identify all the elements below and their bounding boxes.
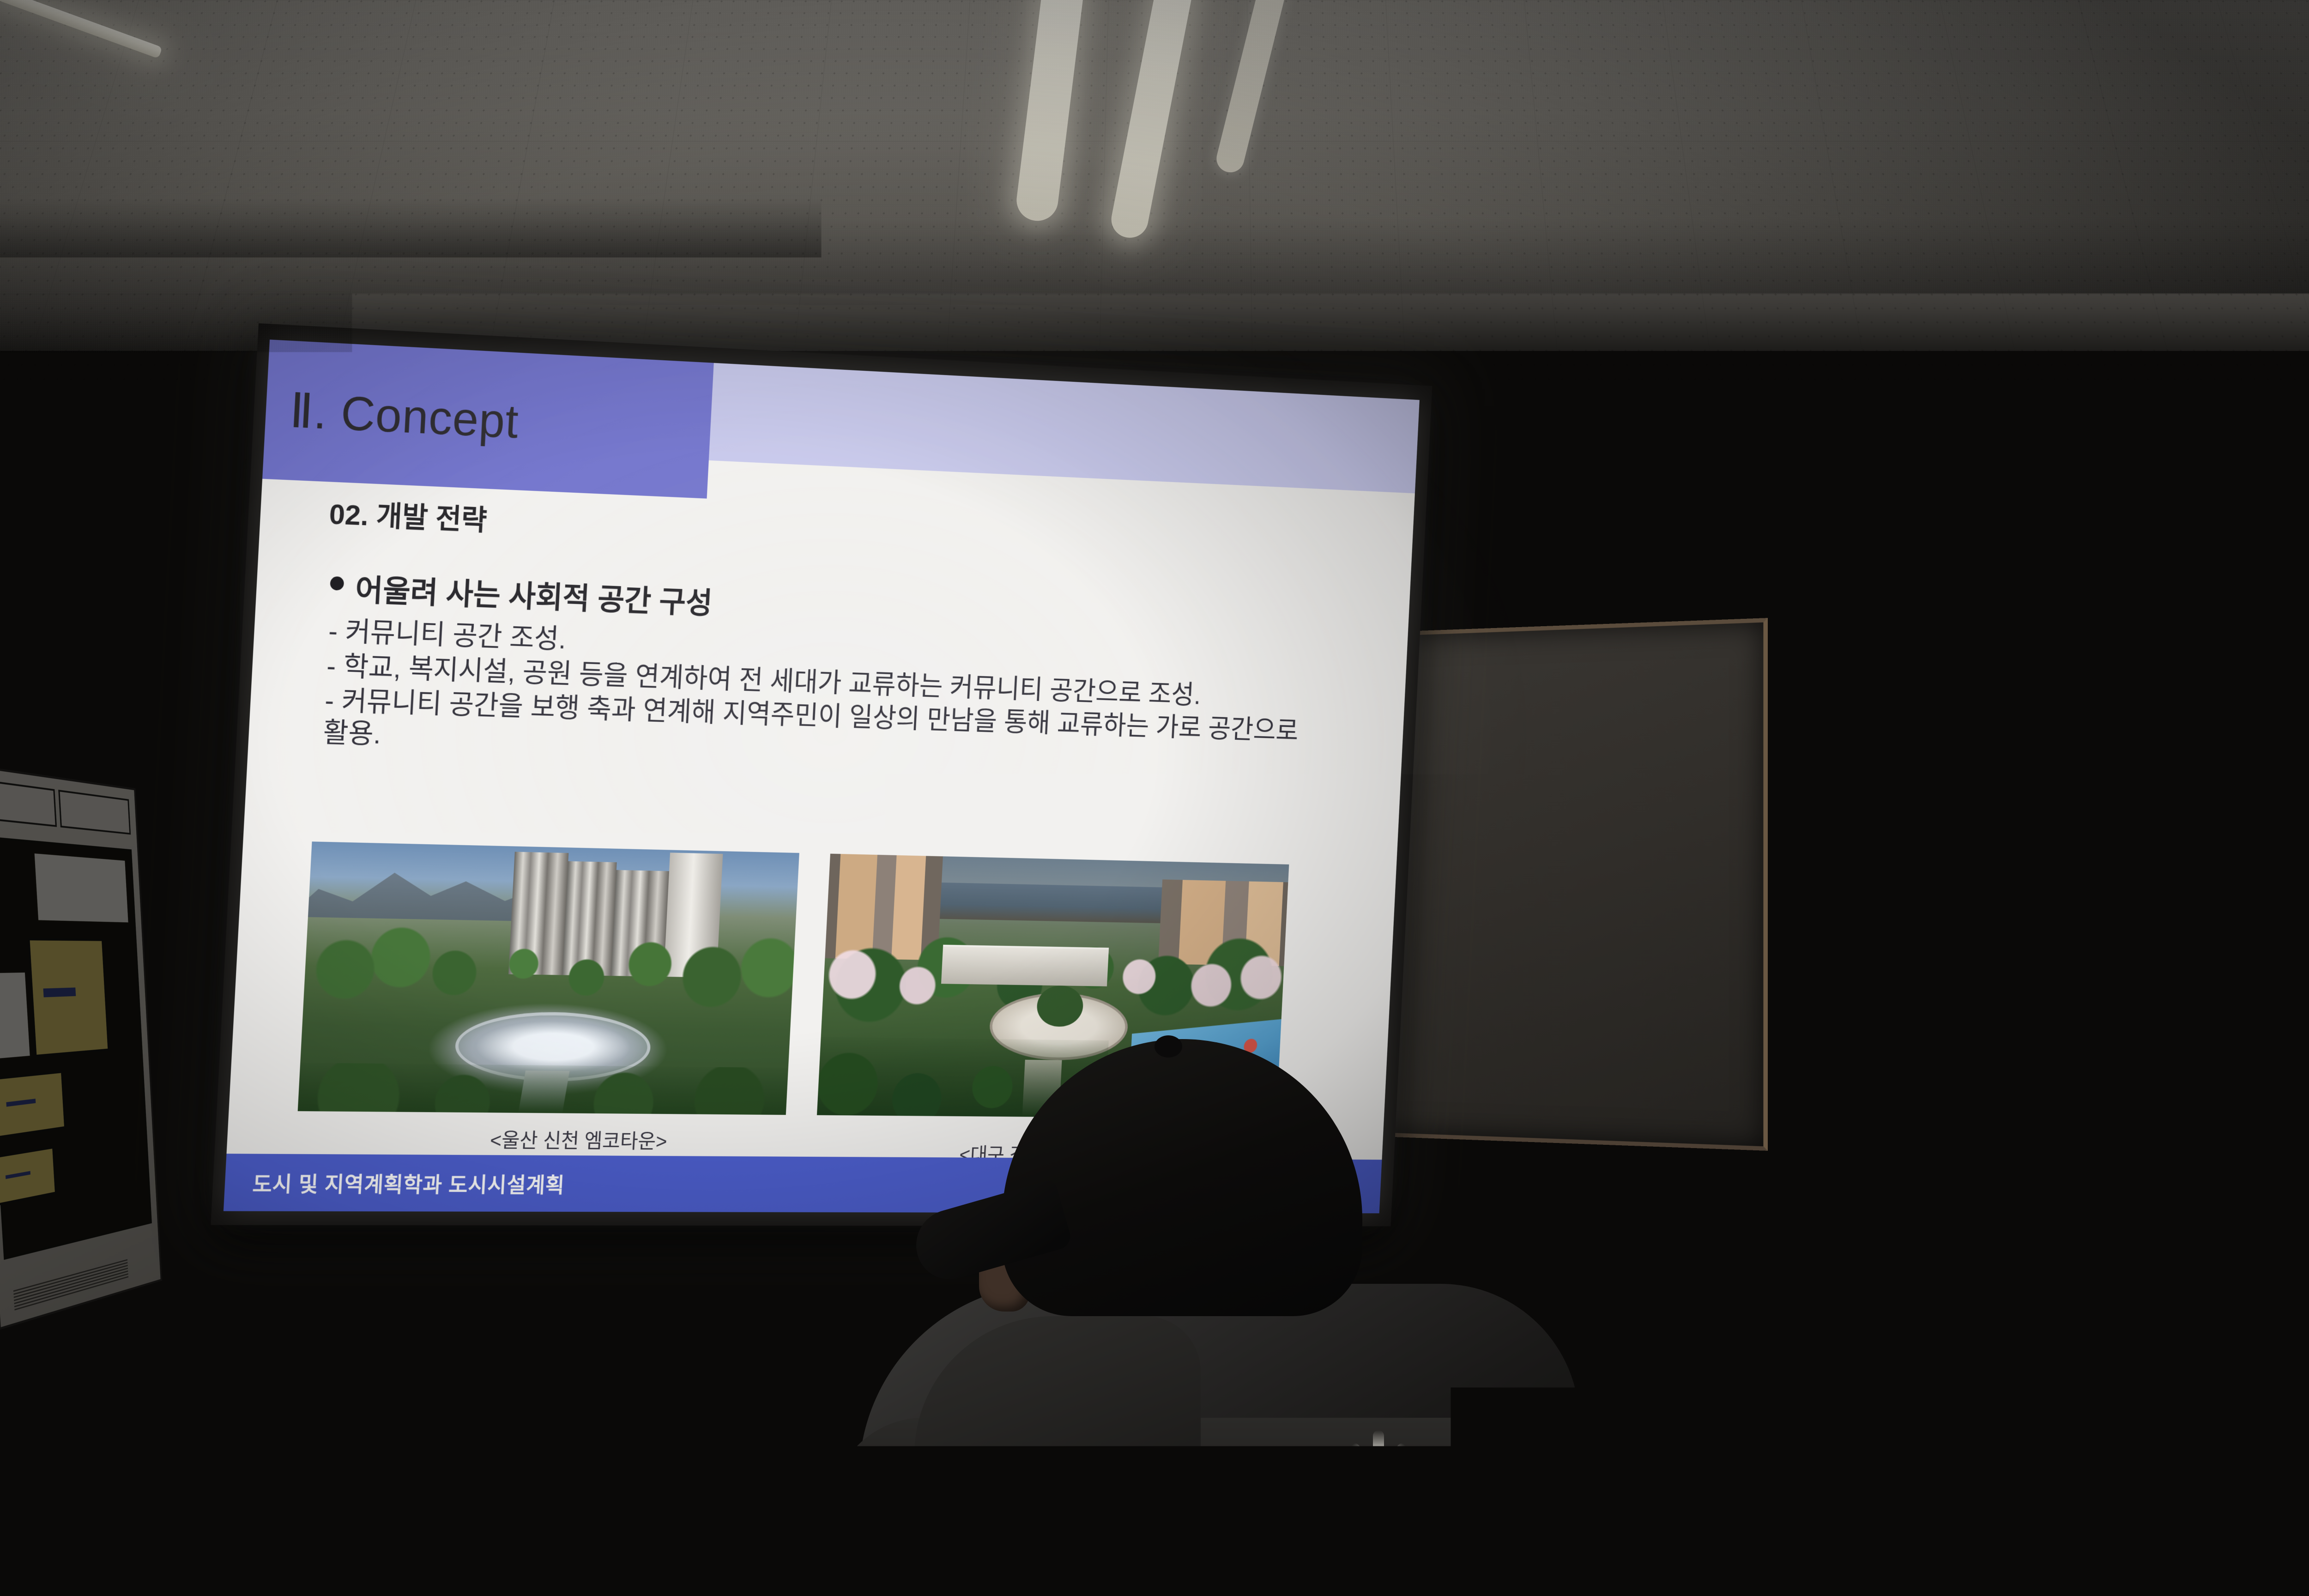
- slide-footer-label: 도시 및 지역계획학과 도시시설계획: [224, 1167, 565, 1198]
- lecture-room: Ⅱ. Concept 02. 개발 전략 어울려 사는 사회적 공간 구성 커뮤…: [0, 0, 2309, 1596]
- bullet-dot-icon: [330, 576, 344, 591]
- wall-poster-board: [0, 763, 162, 1330]
- slide-title: Ⅱ. Concept: [265, 381, 520, 449]
- audience-member-fur-hood: [1783, 1201, 2309, 1596]
- audience-member-with-cap: [776, 1039, 1653, 1596]
- paper-cup: [432, 1531, 649, 1596]
- baseball-cap: [1002, 1039, 1362, 1316]
- fur-hood-trim: [1838, 1201, 2309, 1441]
- slide-photo-ulsan: [298, 842, 799, 1115]
- slide-title-tab: Ⅱ. Concept: [262, 339, 714, 498]
- wall-speaker-icon: [1992, 537, 2091, 602]
- speaker-led-indicator: [2009, 674, 2017, 683]
- slide-subheading: 02. 개발 전략: [328, 490, 488, 538]
- bullet-main-label: 어울려 사는 사회적 공간 구성: [354, 565, 713, 623]
- presenter-glasses-icon: [1992, 927, 2064, 943]
- coat-grommet: [2143, 1519, 2175, 1554]
- slide-photo-caption-ulsan: <울산 신천 엠코타운>: [350, 1123, 803, 1155]
- hoodie-logo-mark: ✗: [1252, 1459, 1445, 1571]
- slide-bullets: 어울려 사는 사회적 공간 구성 커뮤니티 공간 조성. 학교, 복지시설, 공…: [321, 564, 1366, 781]
- cap-button: [1154, 1035, 1182, 1058]
- cup-body: [432, 1545, 649, 1596]
